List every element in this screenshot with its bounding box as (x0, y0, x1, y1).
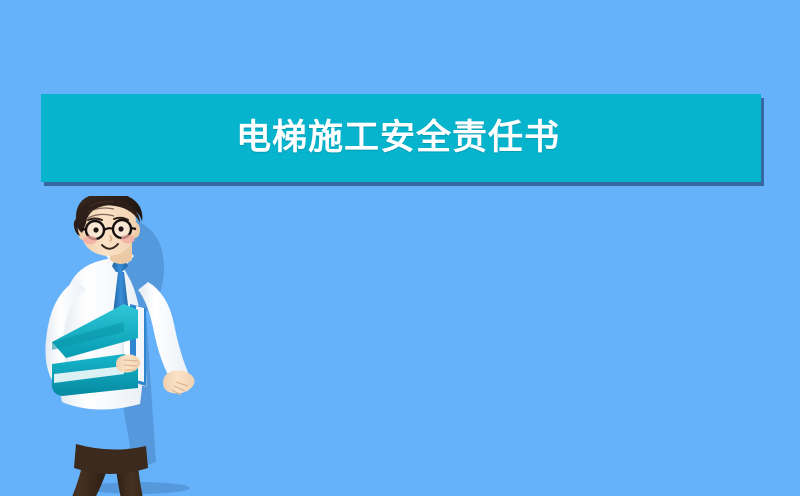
page-title: 电梯施工安全责任书 (236, 121, 560, 156)
title-banner: 电梯施工安全责任书 (41, 94, 761, 182)
businessman-illustration (18, 196, 248, 496)
poster-canvas: 电梯施工安全责任书 (0, 0, 800, 496)
right-hand (163, 370, 195, 395)
